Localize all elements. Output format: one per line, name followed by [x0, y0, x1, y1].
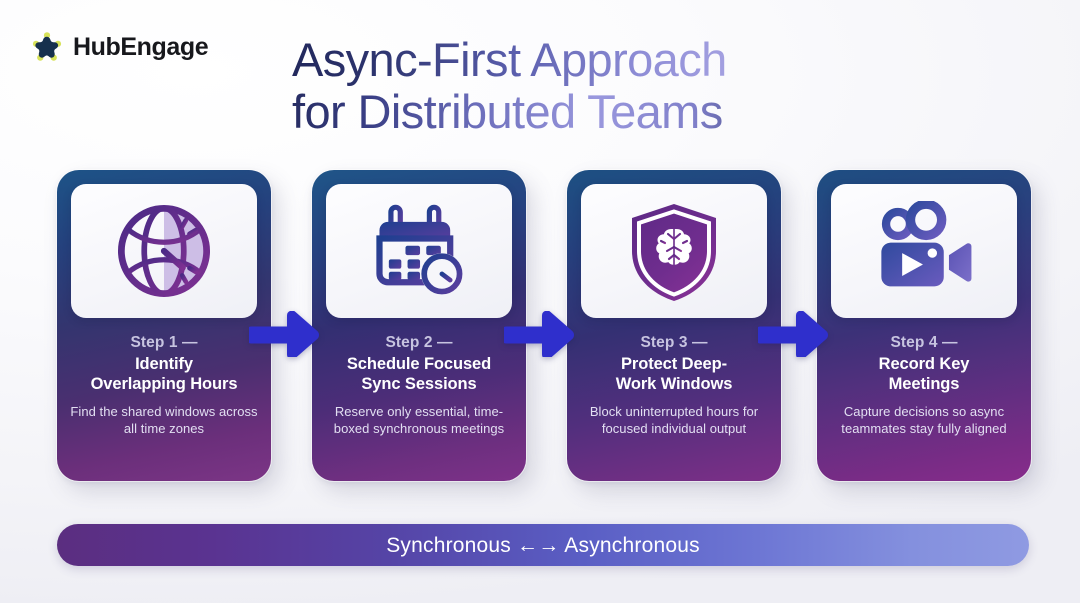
- step-4-description: Capture decisions so async teammates sta…: [829, 403, 1019, 437]
- step-1-description: Find the shared windows across all time …: [69, 403, 259, 437]
- brand-logo: HubEngage: [30, 30, 208, 64]
- step-2-icon-tile: [326, 184, 512, 318]
- step-4-body: Step 4 — Record Key Meetings Capture dec…: [829, 333, 1019, 437]
- step-4-title: Record Key Meetings: [829, 354, 1019, 394]
- arrow-right-icon: [504, 311, 576, 357]
- arrow-right-icon: [758, 311, 830, 357]
- page-title-line-1: Async-First Approach: [292, 34, 852, 86]
- step-1-icon-tile: [71, 184, 257, 318]
- connector-arrow-1: [249, 311, 321, 357]
- step-3-label: Step 3 —: [579, 333, 769, 352]
- hubengage-star-icon: [30, 30, 64, 64]
- step-3-description: Block uninterrupted hours for focused in…: [579, 403, 769, 437]
- page-title-line-2: for Distributed Teams: [292, 86, 852, 138]
- step-3-icon-tile: [581, 184, 767, 318]
- step-1-title: Identify Overlapping Hours: [69, 354, 259, 394]
- arrow-right-icon: [249, 311, 321, 357]
- calendar-clock-icon: [367, 199, 471, 303]
- step-card-4[interactable]: Step 4 — Record Key Meetings Capture dec…: [817, 170, 1031, 481]
- step-card-3[interactable]: Step 3 — Protect Deep- Work Windows Bloc…: [567, 170, 781, 481]
- step-2-label: Step 2 —: [324, 333, 514, 352]
- step-1-body: Step 1 — Identify Overlapping Hours Find…: [69, 333, 259, 437]
- infographic-canvas: HubEngage Async-First Approach for Distr…: [0, 0, 1080, 603]
- step-4-label: Step 4 —: [829, 333, 1019, 352]
- page-title: Async-First Approach for Distributed Tea…: [292, 34, 852, 138]
- step-card-1[interactable]: Step 1 — Identify Overlapping Hours Find…: [57, 170, 271, 481]
- spectrum-bar: Synchronous ←→ Asynchronous: [57, 524, 1029, 566]
- step-3-title: Protect Deep- Work Windows: [579, 354, 769, 394]
- step-2-title: Schedule Focused Sync Sessions: [324, 354, 514, 394]
- globe-clock-icon: [112, 199, 216, 303]
- connector-arrow-2: [504, 311, 576, 357]
- step-4-icon-tile: [831, 184, 1017, 318]
- spectrum-label: Synchronous ←→ Asynchronous: [386, 535, 700, 556]
- step-2-description: Reserve only essential, time-boxed synch…: [324, 403, 514, 437]
- step-card-2[interactable]: Step 2 — Schedule Focused Sync Sessions …: [312, 170, 526, 481]
- step-2-body: Step 2 — Schedule Focused Sync Sessions …: [324, 333, 514, 437]
- connector-arrow-3: [758, 311, 830, 357]
- shield-brain-icon: [624, 199, 724, 303]
- video-camera-icon: [872, 201, 976, 301]
- step-1-label: Step 1 —: [69, 333, 259, 352]
- step-3-body: Step 3 — Protect Deep- Work Windows Bloc…: [579, 333, 769, 437]
- brand-name: HubEngage: [73, 35, 208, 60]
